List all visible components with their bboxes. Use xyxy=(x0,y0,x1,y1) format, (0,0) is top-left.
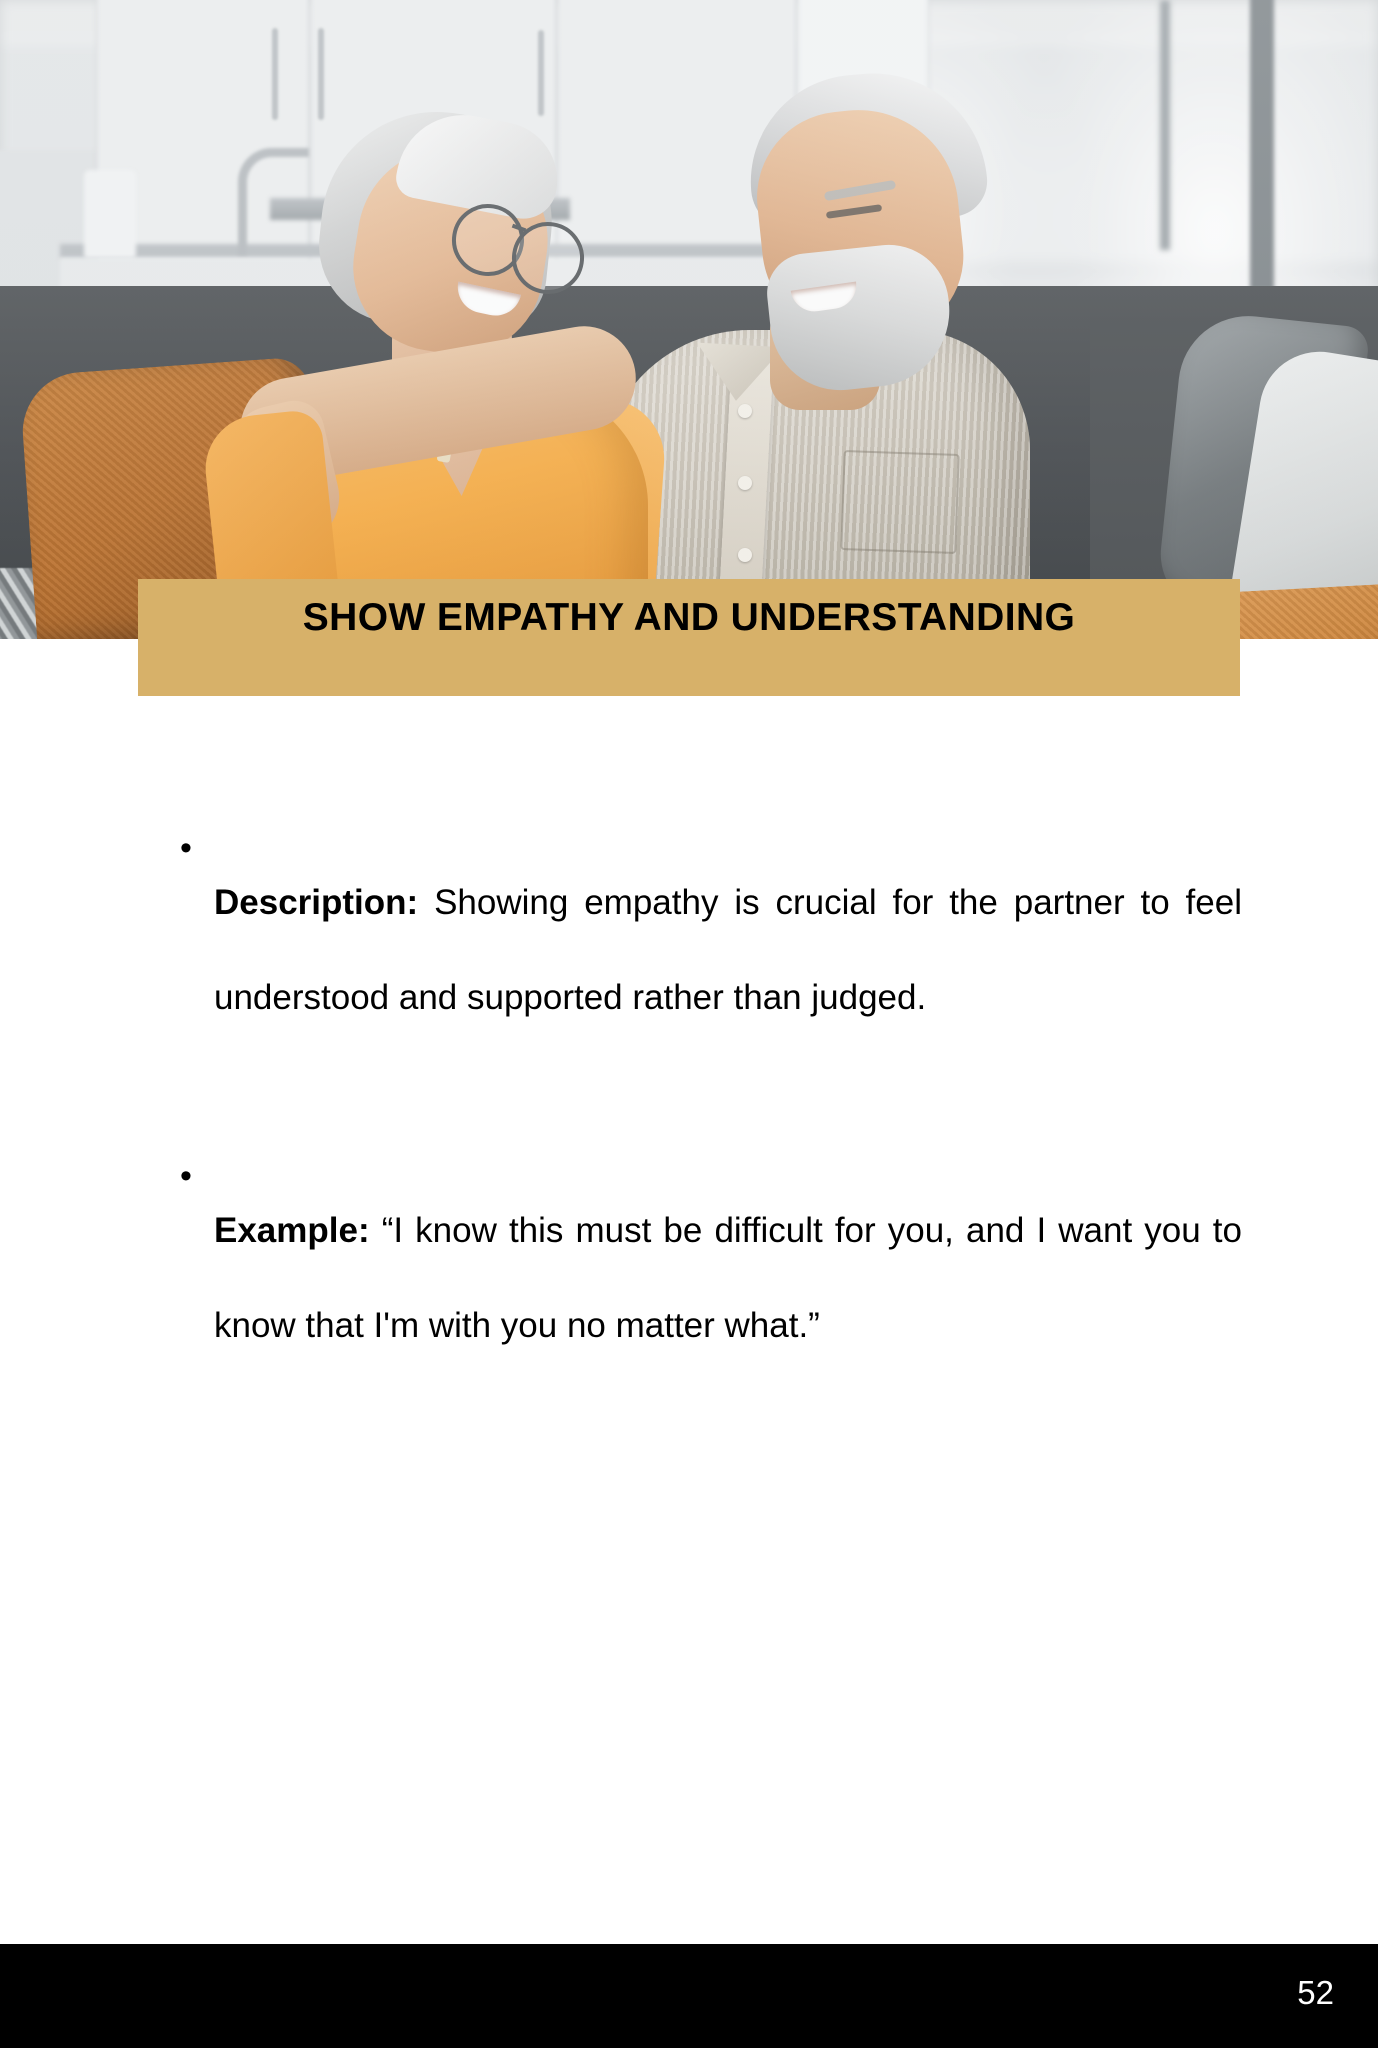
page-number: 52 xyxy=(1297,1976,1334,2009)
cabinet-handle xyxy=(272,28,278,120)
bullet-text: Description: Showing empathy is crucial … xyxy=(214,855,1242,1045)
shirt-button xyxy=(738,548,752,562)
bullet-icon: • xyxy=(178,1148,214,1204)
list-item: • Description: Showing empathy is crucia… xyxy=(178,820,1242,1080)
window-frame xyxy=(1250,0,1274,290)
hero-photo xyxy=(0,0,1378,639)
bullet-icon: • xyxy=(178,820,214,876)
kitchen-faucet xyxy=(238,148,309,255)
slide-page: SHOW EMPATHY AND UNDERSTANDING • Descrip… xyxy=(0,0,1378,2048)
content-body: • Description: Showing empathy is crucia… xyxy=(178,820,1242,1476)
shirt-button xyxy=(738,404,752,418)
page-title: SHOW EMPATHY AND UNDERSTANDING xyxy=(303,597,1076,640)
bullet-label: Example: xyxy=(214,1211,370,1250)
soap-bottle xyxy=(84,170,136,258)
bullet-text: Example: “I know this must be difficult … xyxy=(214,1183,1242,1373)
shirt-button xyxy=(738,476,752,490)
footer-bar: 52 xyxy=(0,1944,1378,2048)
cabinet-handle xyxy=(318,28,324,120)
window-frame xyxy=(1160,0,1170,250)
man-shirt-pocket xyxy=(840,450,959,554)
bullet-label: Description: xyxy=(214,883,418,922)
list-item: • Example: “I know this must be difficul… xyxy=(178,1148,1242,1408)
cabinet-handle xyxy=(538,30,544,116)
title-banner: SHOW EMPATHY AND UNDERSTANDING xyxy=(138,579,1240,696)
